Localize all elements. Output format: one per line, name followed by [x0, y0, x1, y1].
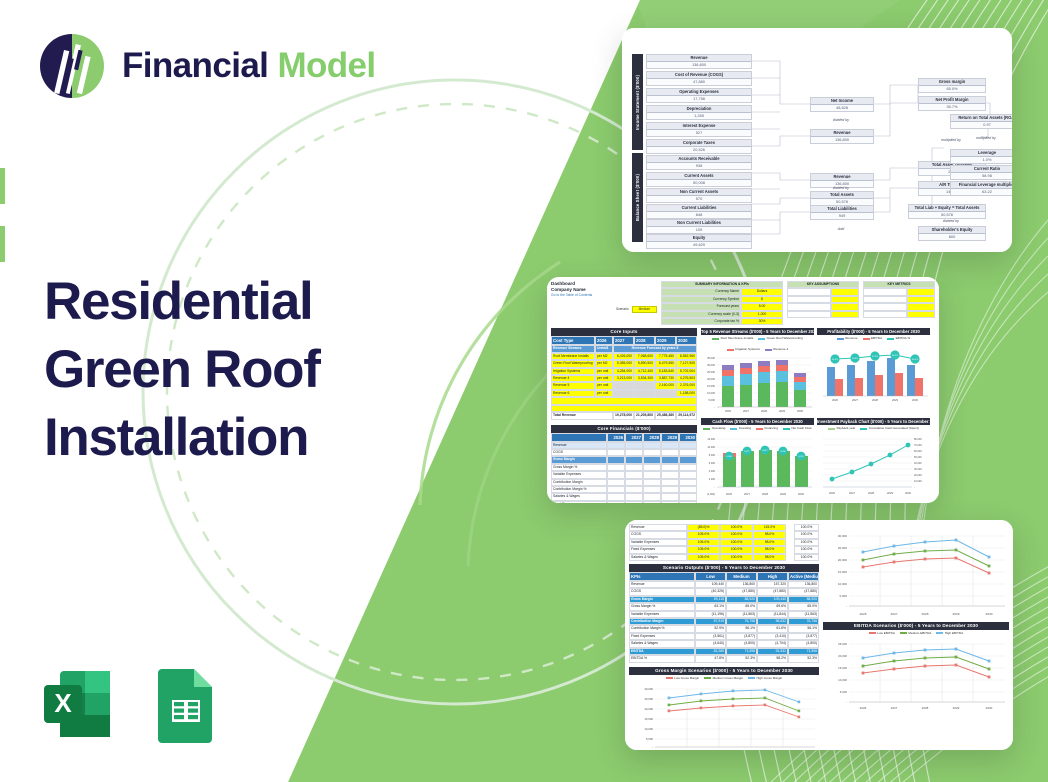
scenario-medium-cell[interactable]: 100.0%: [720, 539, 753, 546]
flow-operator: multiplied by: [950, 136, 1012, 140]
summary-row-label: Currency scale (0-3): [661, 311, 741, 318]
svg-text:2026: 2026: [829, 491, 835, 495]
row-label: EBITDA: [629, 648, 695, 655]
total-revenue-label: Total Revenue: [551, 412, 613, 419]
row-label: COGS: [551, 449, 607, 456]
input-cell[interactable]: 3,534,300: [634, 375, 655, 382]
scenario-low-cell[interactable]: 105.0%: [687, 531, 720, 538]
table-cell: [607, 456, 625, 463]
table-cell: (47,880): [788, 588, 819, 595]
dashboard-sheet: Dashboard Company Name Go to the Table o…: [547, 277, 939, 503]
scenario-selector[interactable]: Medium: [632, 306, 657, 313]
scenario-active-cell: 100.0%: [794, 539, 819, 546]
profitability-chart[interactable]: Profitability ($'000) - 5 Years to Decem…: [817, 328, 930, 414]
scenario-label: Scenario: [616, 307, 629, 312]
row-label: Fixed Expenses: [629, 633, 695, 640]
input-cell[interactable]: 1,188,000: [676, 390, 697, 397]
table-cell: [679, 486, 697, 493]
table-cell: (40,325): [695, 588, 726, 595]
input-row-unit[interactable]: per unit: [595, 382, 613, 389]
svg-text:5,000: 5,000: [840, 690, 848, 694]
svg-text:35,000: 35,000: [707, 356, 715, 360]
table-cell: 76,758: [726, 618, 757, 625]
svg-text:2030: 2030: [798, 492, 804, 496]
col-header: 2030: [676, 336, 697, 345]
svg-text:30,000: 30,000: [644, 687, 653, 691]
svg-text:-: -: [846, 604, 847, 608]
svg-text:60,000: 60,000: [914, 450, 922, 453]
row-label: EBITDA %: [629, 655, 695, 662]
total-cell: 19,278,000: [613, 412, 634, 419]
table-cell: [661, 442, 679, 449]
svg-text:-: -: [714, 486, 715, 489]
svg-text:2026: 2026: [726, 492, 732, 496]
input-cell[interactable]: 4,284,000: [613, 368, 634, 375]
input-row-unit[interactable]: per unit: [595, 368, 613, 375]
chart-title: Profitability ($'000) - 5 Years to Decem…: [817, 328, 930, 335]
table-cell: 57,919: [695, 618, 726, 625]
investment-payback-chart[interactable]: Investment Payback Chart ($'000) - 5 Yea…: [817, 418, 930, 497]
input-row-unit[interactable]: per unit: [595, 375, 613, 382]
row-label: COGS: [629, 531, 687, 538]
svg-text:2030: 2030: [905, 491, 911, 495]
svg-text:2027: 2027: [891, 612, 898, 616]
toc-link[interactable]: Go to the Table of Contents: [551, 293, 657, 298]
chart-plot-area: 12,00010,000 8,0006,000 4,0002,000 -(2,0…: [701, 431, 814, 497]
svg-text:12,000: 12,000: [707, 438, 715, 441]
input-cell[interactable]: 3,887,730: [655, 375, 676, 382]
ebitda-scenarios-title: EBITDA Scenarios ($'000) - 5 Years to De…: [823, 622, 1009, 630]
table-cell: 88,920: [726, 596, 757, 603]
svg-text:80,000: 80,000: [914, 438, 922, 441]
col-header: Low: [695, 572, 726, 581]
svg-text:2028: 2028: [872, 398, 878, 402]
table-cell: (47,880): [726, 588, 757, 595]
table-cell: [607, 486, 625, 493]
svg-text:2029: 2029: [953, 706, 960, 710]
table-cell: [679, 449, 697, 456]
svg-text:40,000: 40,000: [914, 462, 922, 465]
table-cell: 109,440: [757, 596, 788, 603]
flow-box: Depreciation1,285: [646, 105, 752, 120]
input-cell[interactable]: 5,355,000: [613, 360, 634, 367]
col-header: Active (Medium): [788, 572, 819, 581]
col-header: Medium: [726, 572, 757, 581]
svg-text:10,000: 10,000: [914, 480, 922, 483]
row-label: Salaries & Wages: [629, 640, 695, 647]
scenario-analysis-screenshot[interactable]: Revenue(85.0)%100.0%115.0% 100.0%COGS105…: [625, 520, 1013, 750]
svg-text:-: -: [714, 406, 715, 409]
table-row: Fixed Expenses: [551, 501, 697, 503]
key-assumptions-title: KEY ASSUMPTIONS: [787, 281, 859, 288]
row-label: Contribution Margin: [629, 618, 695, 625]
table-row: Gross Margin: [551, 456, 697, 463]
table-cell: [625, 471, 643, 478]
svg-text:70,000: 70,000: [914, 444, 922, 447]
table-row: COGS(40,325)(47,880)(47,880)(47,880): [629, 588, 819, 595]
svg-text:-: -: [652, 745, 653, 749]
scenario-high-cell[interactable]: 115.0%: [753, 524, 786, 531]
table-cell: 65.0%: [788, 603, 819, 610]
scenario-high-cell[interactable]: 98.0%: [753, 554, 786, 561]
table-cell: [625, 493, 643, 500]
col-header: High: [757, 572, 788, 581]
svg-text:2030: 2030: [986, 612, 993, 616]
summary-information-box: SUMMARY INFORMATION & KPIs Currency Name…: [661, 281, 783, 325]
table-cell: [607, 449, 625, 456]
legend-item: Green Roof Waterproofing: [758, 335, 803, 341]
table-cell: [661, 493, 679, 500]
row-label: Gross Margin: [551, 456, 607, 463]
input-cell[interactable]: 5,702,004: [676, 368, 697, 375]
scenario-medium-cell[interactable]: 100.0%: [720, 554, 753, 561]
table-row: Revenue: [551, 442, 697, 449]
dashboard-charts: Top 5 Revenue Streams ($'000) - 5 Years …: [701, 328, 935, 503]
table-cell: [679, 479, 697, 486]
svg-text:8,000: 8,000: [709, 454, 716, 457]
svg-text:20,000: 20,000: [707, 377, 715, 381]
scenario-active-cell: 100.0%: [794, 554, 819, 561]
input-cell[interactable]: 6,479,550: [655, 360, 676, 367]
svg-text:2028: 2028: [922, 706, 929, 710]
table-row: Salaries & Wages(4,640)(4,800)(4,704)(4,…: [629, 640, 819, 647]
brand-logo[interactable]: Financial Model: [36, 30, 376, 102]
table-cell: [643, 456, 661, 463]
table-cell: (3,877): [788, 633, 819, 640]
revenue-streams-header: Revenue Streams: [551, 345, 595, 352]
flow-operator: divided by: [918, 219, 984, 223]
svg-text:20,000: 20,000: [914, 474, 922, 477]
dashboard-header: Dashboard Company Name Go to the Table o…: [551, 281, 657, 313]
microsoft-excel-icon[interactable]: X: [36, 663, 118, 745]
flow-box: Equity49,629: [646, 234, 752, 249]
svg-text:2029: 2029: [887, 491, 893, 495]
table-cell: 91,532: [757, 648, 788, 655]
input-cell[interactable]: 2,376,000: [676, 382, 697, 389]
svg-text:20,000: 20,000: [644, 707, 653, 711]
summary-row-label: Corporate tax %: [661, 318, 741, 325]
row-label: COGS: [629, 588, 695, 595]
table-cell: (47,880): [757, 588, 788, 595]
scenario-summary-line-chart[interactable]: 30,00025,000 20,00015,000 10,0005,000 -: [823, 524, 1009, 620]
scenario-medium-cell[interactable]: 100.0%: [720, 531, 753, 538]
table-cell: (3,561): [695, 633, 726, 640]
table-row: Fixed Expenses(3,561)(3,877)(3,410)(3,87…: [629, 633, 819, 640]
row-label: Gross Margin: [629, 596, 695, 603]
left-content-panel: Financial Model Residential Green Roof I…: [0, 0, 430, 782]
flow-box: Shareholder's Equity800: [918, 226, 986, 241]
table-cell: 69.6%: [757, 603, 788, 610]
pie-bar-chart-logo-icon: [36, 30, 108, 102]
table-row: Salaries & Wages105.0%100.0%98.0% 100.0%: [629, 554, 819, 561]
table-row: Gross Margin %63.1%65.0%69.6%65.0%: [629, 603, 819, 610]
summary-row-value[interactable]: $: [741, 296, 783, 303]
table-row: Revenue(85.0)%100.0%115.0% 100.0%: [629, 524, 819, 531]
svg-text:6,980: 6,980: [726, 456, 732, 458]
brand-name: Financial Model: [122, 46, 376, 86]
row-label: Revenue: [551, 442, 607, 449]
flow-box: Revenue136,800: [646, 54, 752, 69]
table-cell: 157,320: [757, 581, 788, 588]
col-header: 2026: [607, 433, 625, 442]
row-label: Salaries & Wages: [551, 493, 607, 500]
input-row-label[interactable]: Irrigation Systems: [551, 368, 595, 375]
top-5-revenue-streams-chart[interactable]: Top 5 Revenue Streams ($'000) - 5 Years …: [701, 328, 814, 414]
input-row-unit[interactable]: per M2: [595, 360, 613, 367]
input-row-label[interactable]: Roof Membrane Installs: [551, 353, 595, 360]
svg-text:10,000: 10,000: [644, 727, 653, 731]
table-row: COGS: [551, 449, 697, 456]
table-cell: (3,410): [757, 633, 788, 640]
svg-text:8,617: 8,617: [762, 450, 768, 452]
table-cell: [607, 501, 625, 503]
total-cell: 21,205,800: [634, 412, 655, 419]
scenario-high-cell[interactable]: 98.0%: [753, 539, 786, 546]
table-cell: (11,844): [757, 611, 788, 618]
svg-text:57.3%: 57.3%: [872, 356, 878, 358]
dashboard-screenshot[interactable]: Dashboard Company Name Go to the Table o…: [547, 277, 939, 503]
input-row-unit[interactable]: per M2: [595, 353, 613, 360]
chart-title: Investment Payback Chart ($'000) - 5 Yea…: [817, 418, 930, 425]
svg-text:2029: 2029: [892, 398, 898, 402]
scenario-low-cell[interactable]: (85.0)%: [687, 524, 720, 531]
input-cell[interactable]: 6,426,000: [613, 353, 634, 360]
chart-plot-area: 80,00070,000 60,00050,000 40,00030,000 2…: [817, 431, 930, 497]
table-cell: [661, 486, 679, 493]
summary-row-value[interactable]: Dollars: [741, 288, 783, 295]
table-cell: 136,800: [726, 581, 757, 588]
table-cell: 76,758: [788, 618, 819, 625]
table-cell: 71,598: [788, 648, 819, 655]
dupont-analysis-screenshot[interactable]: Income Statement ($'000) Balance Sheet (…: [622, 28, 1012, 252]
input-row-label[interactable]: Green Roof Waterproofing: [551, 360, 595, 367]
svg-text:25,000: 25,000: [838, 546, 848, 550]
table-row: Variable Expenses(11,196)(11,563)(11,844…: [629, 611, 819, 618]
svg-text:2026: 2026: [725, 409, 731, 413]
row-label: Contribution Margin: [551, 479, 607, 486]
table-cell: [643, 442, 661, 449]
svg-text:58.1%: 58.1%: [892, 355, 898, 357]
svg-text:5,000: 5,000: [839, 594, 847, 598]
input-row-label[interactable]: Revenue 4: [551, 375, 595, 382]
chart-plot-area: 35,00030,000 25,00020,000 15,00010,000 5…: [701, 352, 814, 414]
table-cell: [607, 493, 625, 500]
scenario-high-cell[interactable]: 98.0%: [753, 546, 786, 553]
table-cell: [625, 486, 643, 493]
row-label: Revenue: [629, 524, 687, 531]
flow-box: Return on Total Assets (ROA)0.97: [950, 114, 1012, 129]
flow-box: Current Ratio58.98: [950, 165, 1012, 180]
input-cell[interactable]: 4,276,503: [676, 375, 697, 382]
table-cell: [607, 471, 625, 478]
table-row: Contribution Margin57,91976,75896,83276,…: [629, 618, 819, 625]
table-cell: [643, 486, 661, 493]
col-header: 2029: [661, 433, 679, 442]
table-cell: [661, 471, 679, 478]
input-row-label[interactable]: Revenue 6: [551, 390, 595, 397]
summary-row-label: Forecast years: [661, 303, 741, 310]
scenario-outputs-title: Scenario Outputs ($'000) - 5 Years to De…: [629, 564, 819, 572]
svg-text:55.5%: 55.5%: [832, 359, 838, 361]
input-cell[interactable]: 7,775,460: [655, 353, 676, 360]
flow-box: Operating Expenses17,758: [646, 88, 752, 103]
key-metrics-box: KEY METRICS: [863, 281, 935, 318]
flow-box: Revenue136,800: [810, 129, 874, 144]
flow-operator: Add: [810, 227, 872, 231]
table-cell: (4,800): [726, 640, 757, 647]
table-cell: 52.9%: [695, 625, 726, 632]
flow-box: Net Income48,828: [810, 97, 874, 112]
svg-text:X: X: [54, 688, 72, 718]
income-statement-sidebar: Income Statement ($'000): [632, 54, 643, 150]
core-financials-title: Core Financials ($'000): [551, 425, 697, 433]
ebitda-scenarios-chart[interactable]: 25,00020,000 15,00010,000 5,000-: [823, 636, 1009, 712]
summary-row-value[interactable]: 30%: [741, 318, 783, 325]
table-cell: 136,800: [788, 581, 819, 588]
table-cell: 56.1%: [726, 625, 757, 632]
svg-text:2026: 2026: [832, 398, 838, 402]
table-cell: [661, 456, 679, 463]
col-header: 2027: [625, 433, 643, 442]
svg-text:2027: 2027: [849, 491, 855, 495]
summary-row-value[interactable]: 1,000: [741, 311, 783, 318]
scenario-low-cell[interactable]: 105.0%: [687, 546, 720, 553]
flow-box: Current Assets50,008: [646, 172, 752, 187]
input-cell[interactable]: 3,213,000: [613, 375, 634, 382]
dupont-flow-diagram: Income Statement ($'000) Balance Sheet (…: [632, 52, 1006, 244]
svg-text:2030: 2030: [912, 398, 918, 402]
svg-text:55.6%: 55.6%: [852, 358, 858, 360]
row-label: Salaries & Wages: [629, 554, 687, 561]
scenario-output-rows: Revenue109,440136,800157,320136,800COGS(…: [629, 581, 819, 662]
input-row-unit[interactable]: per unit: [595, 390, 613, 397]
svg-text:50,000: 50,000: [914, 456, 922, 459]
row-label: Gross Margin %: [629, 603, 695, 610]
summary-row-label: Currency Name: [661, 288, 741, 295]
input-cell[interactable]: 5,183,640: [655, 368, 676, 375]
table-cell: [643, 493, 661, 500]
summary-row-value[interactable]: 5.00: [741, 303, 783, 310]
table-row: Fixed Expenses105.0%100.0%98.0% 100.0%: [629, 546, 819, 553]
svg-text:10,000: 10,000: [838, 582, 848, 586]
cash-flow-chart[interactable]: Cash Flow ($'000) - 5 Years to December …: [701, 418, 814, 497]
scenario-right-charts: 30,00025,000 20,00015,000 10,0005,000 -: [823, 524, 1009, 750]
input-cell[interactable]: 8,552,960: [676, 353, 697, 360]
table-cell: [625, 501, 643, 503]
scenario-medium-cell[interactable]: 100.0%: [720, 546, 753, 553]
row-label: Fixed Expenses: [629, 546, 687, 553]
chart-plot-area: 55.5%55.6% 57.3%58.1% 58.1% 20262027 202…: [817, 341, 930, 403]
chart-title: Top 5 Revenue Streams ($'000) - 5 Years …: [701, 328, 814, 335]
input-cell[interactable]: 2,160,000: [655, 382, 676, 389]
svg-text:2030: 2030: [986, 706, 993, 710]
table-cell: (11,196): [695, 611, 726, 618]
svg-text:25,000: 25,000: [838, 642, 847, 646]
scenario-high-cell[interactable]: 98.0%: [753, 531, 786, 538]
scenario-sheet: Revenue(85.0)%100.0%115.0% 100.0%COGS105…: [625, 520, 1013, 750]
table-cell: 109,440: [695, 581, 726, 588]
scenario-active-cell: 100.0%: [794, 531, 819, 538]
table-cell: (4,640): [695, 640, 726, 647]
key-metrics-title: KEY METRICS: [863, 281, 935, 288]
gross-margin-scenarios-title: Gross Margin Scenarios ($'000) - 5 Years…: [629, 667, 819, 675]
flow-box: Non Current Assets570: [646, 188, 752, 203]
legend-item: Roof Membrane Installs: [712, 335, 753, 341]
col-header: Cost Type: [551, 336, 595, 345]
scenario-low-cell[interactable]: 105.0%: [687, 554, 720, 561]
table-cell: 61.6%: [757, 625, 788, 632]
flow-box: Total Liabilities949: [810, 205, 874, 220]
table-cell: [607, 479, 625, 486]
page-title: Residential Green Roof Installation: [44, 268, 404, 471]
table-cell: 52.3%: [726, 655, 757, 662]
gross-margin-scenarios-chart[interactable]: 30,00025,000 20,00015,000 10,0005,000 -: [629, 681, 819, 751]
table-row: Contribution Margin %52.9%56.1%61.6%56.1…: [629, 625, 819, 632]
flow-box: Financial Leverage multiplier63.22: [950, 181, 1012, 196]
summary-row-label: Currency Symbol: [661, 296, 741, 303]
svg-text:2028: 2028: [868, 491, 874, 495]
svg-text:2026: 2026: [860, 706, 867, 710]
table-cell: [643, 479, 661, 486]
table-cell: [643, 449, 661, 456]
table-cell: [643, 464, 661, 471]
table-row: Gross Margin %: [551, 464, 697, 471]
col-header: 2028: [634, 336, 655, 345]
poster-canvas: Financial Model Residential Green Roof I…: [0, 0, 1048, 782]
table-cell: [679, 471, 697, 478]
table-cell: [661, 449, 679, 456]
input-cell[interactable]: 5,890,500: [634, 360, 655, 367]
table-cell: [643, 501, 661, 503]
svg-text:8,371: 8,371: [744, 451, 750, 453]
input-row-label[interactable]: Revenue 5: [551, 382, 595, 389]
svg-text:15,000: 15,000: [707, 384, 715, 388]
flow-box: Net Profit Margin35.7%: [918, 96, 986, 111]
google-sheets-icon[interactable]: [144, 663, 226, 745]
table-row: COGS105.0%100.0%98.0% 100.0%: [629, 531, 819, 538]
scenario-low-cell[interactable]: 105.0%: [687, 539, 720, 546]
scenario-medium-cell[interactable]: 100.0%: [720, 524, 753, 531]
table-cell: 52,289: [695, 648, 726, 655]
table-row: Contribution Margin %: [551, 486, 697, 493]
flow-box: Accounts Receivable938: [646, 155, 752, 170]
table-cell: 52.3%: [788, 655, 819, 662]
row-label: Contribution Margin %: [629, 625, 695, 632]
table-cell: 88,920: [788, 596, 819, 603]
page-title-line-3: Installation: [44, 404, 404, 472]
table-cell: [679, 456, 697, 463]
table-cell: (11,563): [726, 611, 757, 618]
input-cell[interactable]: 4,712,400: [634, 368, 655, 375]
svg-text:2027: 2027: [744, 492, 750, 496]
input-cell[interactable]: 7,127,505: [676, 360, 697, 367]
flow-box: Gross margin65.0%: [918, 78, 986, 93]
svg-text:2027: 2027: [891, 706, 898, 710]
col-header: 2026: [595, 336, 613, 345]
col-header: KPIs: [629, 572, 695, 581]
table-cell: [661, 464, 679, 471]
svg-text:30,000: 30,000: [914, 468, 922, 471]
table-row: Gross Margin69,11588,920109,44088,920: [629, 596, 819, 603]
input-cell[interactable]: 7,068,600: [634, 353, 655, 360]
format-badges: X: [36, 663, 226, 745]
flow-right-anchor: [948, 88, 949, 89]
table-row: EBITDA %47.8%52.3%58.2%52.3%: [629, 655, 819, 662]
brand-name-part1: Financial: [122, 46, 268, 85]
table-cell: [679, 493, 697, 500]
flow-box: Non Current Liabilities105: [646, 219, 752, 234]
svg-text:-: -: [846, 700, 847, 704]
